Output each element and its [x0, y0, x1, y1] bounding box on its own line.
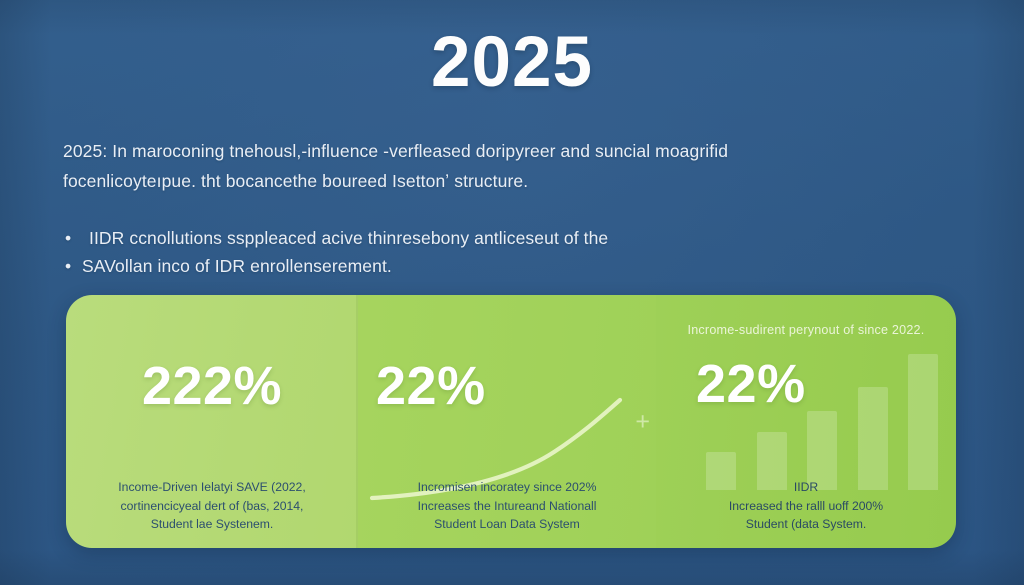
plus-icon: +: [635, 409, 650, 434]
intro-line-2: focenlicoyteıpue. tht bocancethe boureed…: [63, 166, 908, 196]
panel-note-bars: Incrome-sudirent perynout of since 2022.: [656, 323, 956, 337]
caption-line: IIDR: [670, 478, 942, 497]
stat-value-bars: 22%: [656, 357, 956, 411]
caption-line: Student lae Systenem.: [80, 515, 344, 534]
bullet-icon: •: [65, 252, 71, 280]
stat-caption-growth: Incromisen incoratey since 202% Increase…: [358, 478, 656, 534]
caption-line: cortinencicyeal dert of (bas, 2014,: [80, 497, 344, 516]
stat-card: 222% Income-Driven Ielatyi SAVE (2022, c…: [66, 295, 956, 548]
caption-line: Increases the Intureand Nationall: [372, 497, 642, 516]
bullet-list: • IIDR ccnollutions ssppleaced acive thi…: [63, 224, 883, 281]
list-item: • IIDR ccnollutions ssppleaced acive thi…: [63, 224, 883, 252]
stat-panel-bars: Incrome-sudirent perynout of since 2022.…: [656, 295, 956, 548]
caption-line: Increased the ralll uoff 200%: [670, 497, 942, 516]
stat-value-idr: 222%: [66, 359, 358, 413]
list-item: • SAVollan inco of IDR enrollenserement.: [63, 252, 883, 280]
slide-canvas: 2025 2025: In maroconing tnehousl,-influ…: [0, 0, 1024, 585]
stat-caption-idr: Income-Driven Ielatyi SAVE (2022, cortin…: [66, 478, 358, 534]
list-item-label: SAVollan inco of IDR enrollenserement.: [82, 256, 392, 276]
page-title: 2025: [0, 27, 1024, 98]
bullet-icon: •: [65, 224, 71, 252]
caption-line: Incromisen incoratey since 202%: [372, 478, 642, 497]
stat-panel-idr: 222% Income-Driven Ielatyi SAVE (2022, c…: [66, 295, 358, 548]
intro-line-1: 2025: In maroconing tnehousl,-influence …: [63, 136, 908, 166]
caption-line: Student (data System.: [670, 515, 942, 534]
caption-line: Student Loan Data System: [372, 515, 642, 534]
stat-panel-growth: 22% + Incromisen incoratey since 202% In…: [358, 295, 656, 548]
intro-paragraph: 2025: In maroconing tnehousl,-influence …: [63, 136, 908, 197]
caption-line: Income-Driven Ielatyi SAVE (2022,: [80, 478, 344, 497]
list-item-label: IIDR ccnollutions ssppleaced acive thinr…: [89, 228, 608, 248]
stat-caption-bars: IIDR Increased the ralll uoff 200% Stude…: [656, 478, 956, 534]
stat-value-growth: 22%: [358, 359, 656, 413]
